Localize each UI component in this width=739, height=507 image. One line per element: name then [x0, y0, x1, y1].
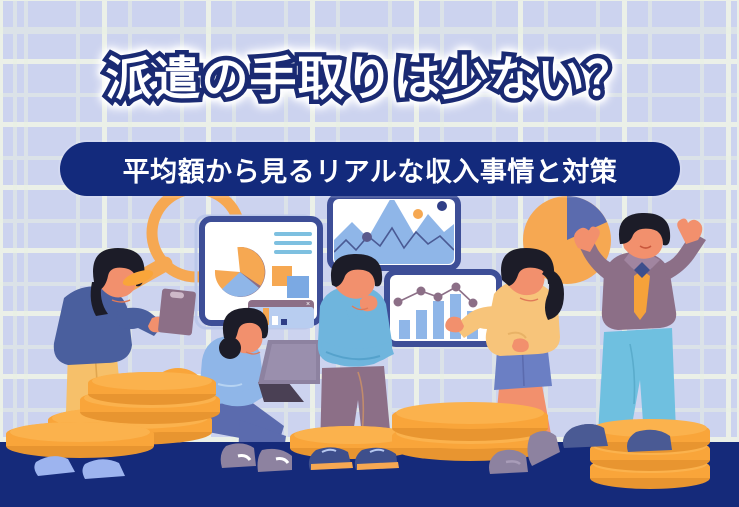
- coin-stack-right: [590, 419, 710, 489]
- banner-image: ×: [0, 0, 739, 507]
- banner-subtitle: 平均額から見るリアルな収入事情と対策: [123, 150, 618, 189]
- subtitle-pill: 平均額から見るリアルな収入事情と対策: [60, 142, 680, 196]
- coin-stack-center-left: [6, 422, 154, 458]
- banner-title: 派遣の手取りは少ない？: [106, 54, 634, 103]
- coin-stack-center-right: [392, 402, 548, 461]
- headline-container: 派遣の手取りは少ない？: [0, 54, 739, 103]
